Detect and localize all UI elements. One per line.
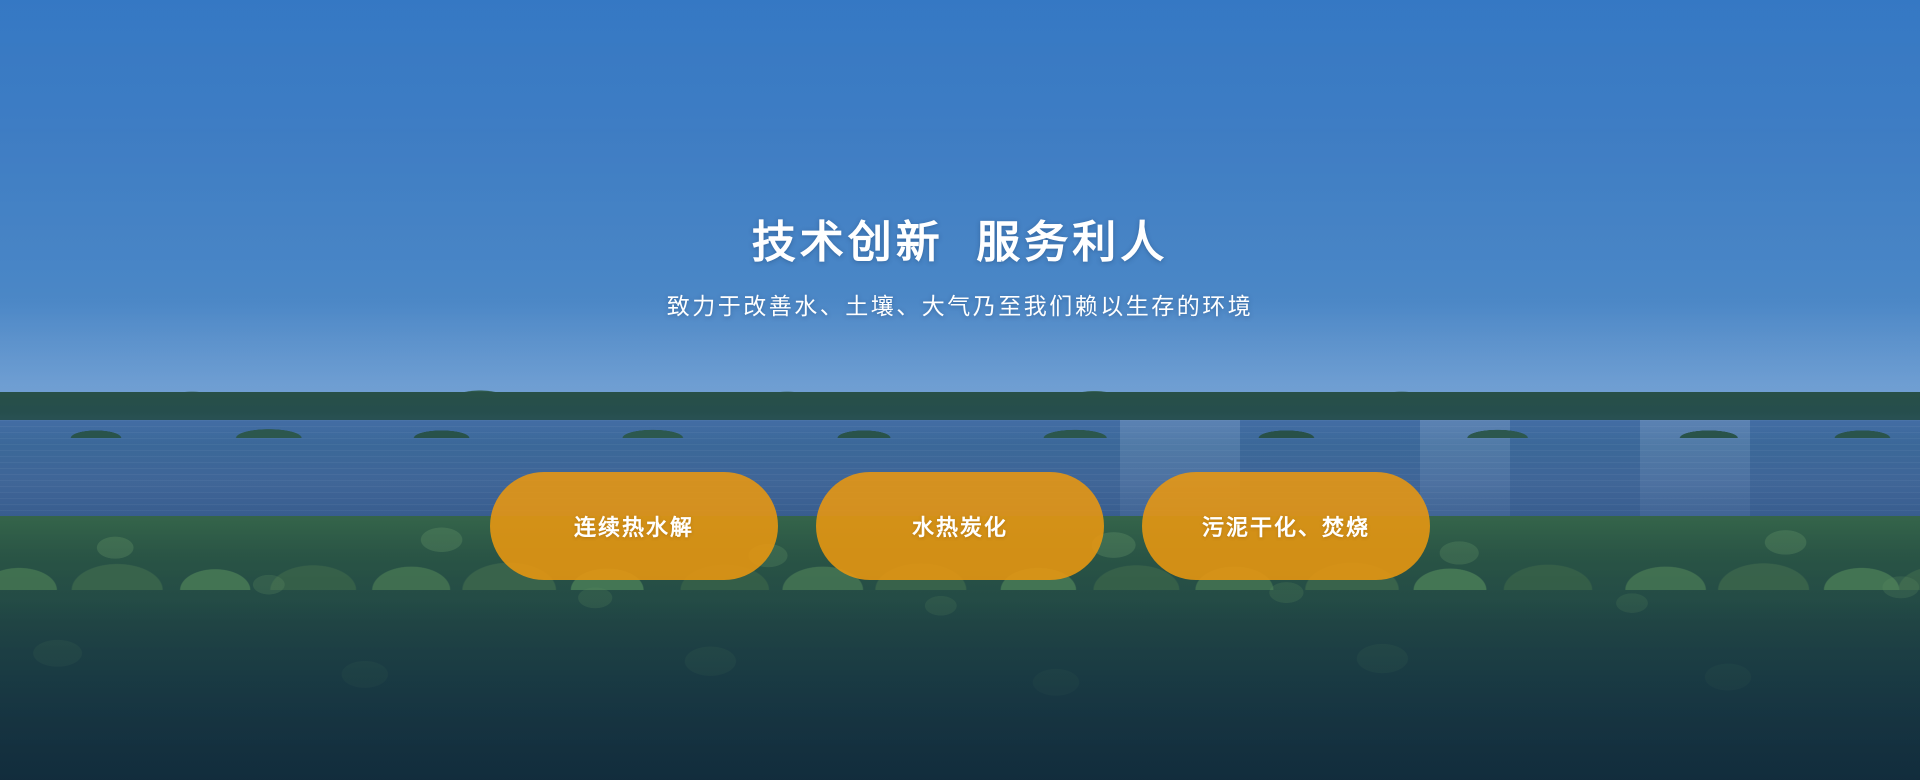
page-title: 技术创新 服务利人: [752, 215, 1168, 270]
hero-content: 技术创新 服务利人 致力于改善水、土壤、大气乃至我们赖以生存的环境: [0, 0, 1920, 780]
page-subtitle: 致力于改善水、土壤、大气乃至我们赖以生存的环境: [667, 287, 1254, 321]
hero-banner: 技术创新 服务利人 致力于改善水、土壤、大气乃至我们赖以生存的环境 连续热水解 …: [0, 0, 1920, 780]
